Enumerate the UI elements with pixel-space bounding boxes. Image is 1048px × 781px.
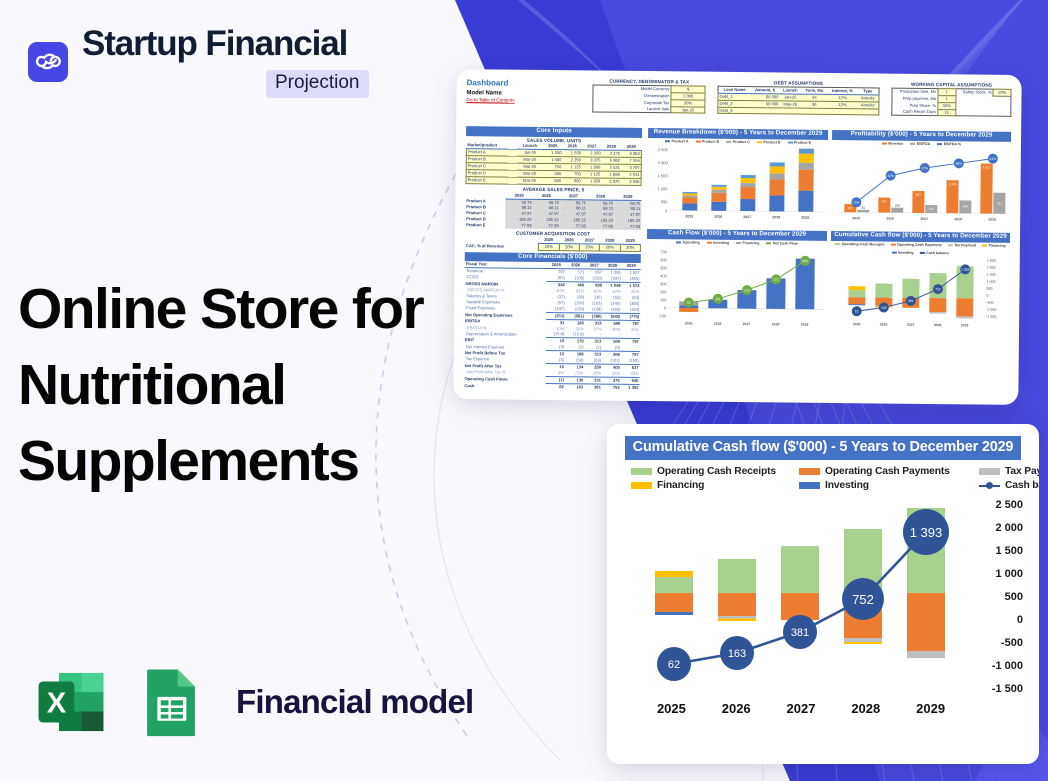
y-tick-label: 0 <box>1017 614 1023 626</box>
legend-label: EBITDA <box>917 142 930 146</box>
svg-text:2027: 2027 <box>907 323 915 327</box>
data-label: 371 <box>773 278 779 282</box>
svg-text:300: 300 <box>660 282 666 286</box>
x-tick-label: 2025 <box>639 701 704 716</box>
svg-text:600: 600 <box>660 258 666 262</box>
legend-label: Product C <box>733 140 750 144</box>
legend-label: Financing <box>657 480 704 491</box>
svg-text:2 500: 2 500 <box>987 259 996 263</box>
svg-text:0: 0 <box>986 294 988 298</box>
dashboard-screenshot-card: Dashboard Model Name Go to Table of Cont… <box>453 69 1021 405</box>
legend-item-investing: Investing <box>799 480 979 491</box>
legend-label: Operating <box>683 241 700 245</box>
data-label: 31 <box>862 206 866 210</box>
y-tick-label: 1 500 <box>995 545 1023 557</box>
bar-group-2027 <box>781 546 819 620</box>
chart-title: Cumulative Cash flow ($'000) - 5 Years t… <box>625 436 1021 460</box>
data-label: 381 <box>791 627 809 639</box>
core-financials-table: Fiscal Year 2025 2026 2027 2028 2029 Rev… <box>463 261 640 390</box>
cell-value: 163 <box>565 384 585 391</box>
mini-chart-title: Cumulative Cash flow ($'000) - 5 Years t… <box>831 231 1010 242</box>
chart-y-axis: 2 500 2 000 1 500 1 000 500 0 -500 -1 00… <box>967 501 1029 689</box>
currency-section-label: CURRENCY, DENOMINATOR & TAX <box>593 78 706 85</box>
cell-value: 62 <box>545 383 565 390</box>
data-label: 32% <box>887 174 894 178</box>
svg-text:2028: 2028 <box>934 323 942 327</box>
mini-chart-cumulative-cash-flow: Cumulative Cash flow ($'000) - 5 Years t… <box>830 231 1010 336</box>
row-label: Cash <box>463 382 545 389</box>
legend-item-operating-cash-payments: Operating Cash Payments <box>799 466 979 477</box>
svg-text:2028: 2028 <box>772 323 780 327</box>
legend-label: Investing <box>825 480 869 491</box>
svg-text:2028: 2028 <box>772 215 780 219</box>
table-row: Product E77.0377.0377.0377.0377.03 <box>465 222 641 230</box>
mini-chart-legend: Operating Cash Receipts Operating Cash P… <box>831 242 1010 256</box>
cumulative-cash-flow-card: Cumulative Cash flow ($'000) - 5 Years t… <box>607 424 1039 764</box>
data-label: 37% <box>921 166 928 170</box>
cac-table: 2025 2026 2027 2028 2029 CAC, % of Reven… <box>465 236 641 252</box>
data-label: 1 285 <box>949 182 957 186</box>
debt-assumptions-table: Loan Name Amount, $ Launch Term, Mo Inte… <box>717 86 879 116</box>
svg-text:2026: 2026 <box>714 322 722 326</box>
table-row: Launch dateJan-25 <box>593 105 705 113</box>
svg-text:100: 100 <box>660 298 666 302</box>
legend-item-cash-balance: Cash balance <box>979 480 1039 491</box>
legend-label: Operating Cash Payments <box>825 466 950 477</box>
svg-text:2025: 2025 <box>852 216 860 220</box>
revenue-breakdown-plot: 2 5002 0001 500 1 0005000 <box>647 144 828 224</box>
page-title: Online Store for Nutritional Supplements <box>18 272 448 499</box>
legend-item-financing: Financing <box>631 480 799 491</box>
bar-group-2025 <box>655 571 693 615</box>
x-tick-label: 2029 <box>898 701 963 716</box>
svg-text:400: 400 <box>660 274 666 278</box>
svg-text:500: 500 <box>986 287 992 291</box>
svg-text:2025: 2025 <box>685 322 693 326</box>
svg-text:2025: 2025 <box>685 215 693 219</box>
data-label: 218 <box>744 289 750 293</box>
chart-svg: 62 163 381 752 1 393 <box>625 501 975 697</box>
legend-label: Investing <box>713 241 729 245</box>
data-label: 10% <box>853 201 860 205</box>
data-label: 506 <box>963 204 969 208</box>
svg-text:500: 500 <box>660 266 666 270</box>
sales-volume-table: Market/product Launch 2025 2026 2027 202… <box>466 142 642 185</box>
chart-legend: Operating Cash Receipts Operating Cash P… <box>631 466 1019 491</box>
data-label: 640 <box>802 259 808 263</box>
legend-item-tax-payment: Tax Payment <box>979 466 1039 477</box>
data-label: 41% <box>990 157 997 161</box>
table-row: Cash Recon Days 15 <box>891 109 1010 117</box>
legend-label: Cash balance <box>1005 480 1039 491</box>
svg-text:0: 0 <box>664 306 666 310</box>
svg-text:2026: 2026 <box>886 217 894 221</box>
legend-label: Tax Payment <box>954 243 976 247</box>
average-price-table: 2025 2026 2027 2028 2029 Product A58.755… <box>465 192 641 230</box>
currency-table: Model Currency$ Denomination1 000 Corpor… <box>593 84 706 114</box>
svg-text:1 000: 1 000 <box>657 186 668 191</box>
data-label: 185 <box>895 204 901 208</box>
cash-flow-plot: 700600500 400300200 1000-100 <box>646 245 827 329</box>
legend-label: Operating Cash Payments <box>897 243 942 247</box>
data-label: 163 <box>728 648 746 660</box>
table-row: CAC, % of Revenue 20% 20% 20% 20% 20% <box>465 242 641 251</box>
bar-group-2026 <box>718 559 756 621</box>
svg-text:1 500: 1 500 <box>987 273 996 277</box>
table-row: Cash621633817521 393 <box>463 382 639 390</box>
mini-chart-title: Cash Flow ($'000) - 5 Years to December … <box>647 229 827 240</box>
legend-label: Product B <box>702 140 719 144</box>
svg-text:1 000: 1 000 <box>987 280 996 284</box>
google-sheets-icon <box>130 661 212 743</box>
table-row: Product EMar-256009001 3502 0253 038 <box>466 177 641 186</box>
data-label: 1 393 <box>910 525 943 540</box>
svg-text:2029: 2029 <box>801 216 809 220</box>
svg-text:-1 500: -1 500 <box>986 315 996 319</box>
svg-text:1 500: 1 500 <box>658 173 669 178</box>
svg-text:2029: 2029 <box>801 323 809 327</box>
mini-chart-title: Profitability ($'000) - 5 Years to Decem… <box>832 130 1011 141</box>
svg-text:2029: 2029 <box>961 324 969 328</box>
svg-text:0: 0 <box>665 208 668 213</box>
svg-text:2027: 2027 <box>743 322 751 326</box>
brand-title: Startup Financial <box>82 26 369 61</box>
data-label: 1 927 <box>983 166 991 170</box>
poster-canvas: Startup Financial Projection Online Stor… <box>0 0 1048 781</box>
cumulative-cash-flow-plot: 2 5002 0001 500 1 0005000 -500-1 000-1 5… <box>830 255 1010 331</box>
badge-label: Financial model <box>236 683 473 721</box>
data-label: 797 <box>997 202 1003 206</box>
profitability-plot: 10% 32% 37% 39% 41% 297 571 857 1 285 <box>831 146 1011 226</box>
svg-text:X: X <box>47 687 67 719</box>
data-label: 857 <box>916 193 922 197</box>
svg-text:-500: -500 <box>986 301 993 305</box>
legend-label: Investing <box>898 251 914 255</box>
cell-value: 1 393 <box>621 384 640 391</box>
brand-subtitle: Projection <box>266 70 369 98</box>
data-label: 752 <box>852 592 874 607</box>
svg-text:2025: 2025 <box>853 322 861 326</box>
x-tick-label: 2027 <box>769 701 834 716</box>
mini-chart-profitability: Profitability ($'000) - 5 Years to Decem… <box>831 130 1011 231</box>
data-label: 62 <box>687 301 691 305</box>
svg-text:-1 000: -1 000 <box>986 308 996 312</box>
legend-label: EBITDA % <box>944 142 961 146</box>
y-tick-label: 500 <box>1005 591 1023 603</box>
data-label: 62 <box>668 659 680 671</box>
y-tick-label: 1 000 <box>995 568 1023 580</box>
table-of-contents-link[interactable]: Go to Table of Contents <box>466 98 586 106</box>
brand-logo: Startup Financial Projection <box>28 26 369 98</box>
svg-text:2029: 2029 <box>988 218 996 222</box>
legend-label: Tax Payment <box>1005 466 1039 477</box>
svg-text:200: 200 <box>660 290 666 294</box>
ecommerce-e-icon <box>28 42 68 82</box>
svg-text:2028: 2028 <box>954 217 962 221</box>
data-label: 571 <box>882 200 888 204</box>
y-tick-label: -1 000 <box>992 660 1023 672</box>
cell-value: 381 <box>584 384 602 391</box>
svg-text:500: 500 <box>661 199 669 204</box>
microsoft-excel-icon: X <box>30 661 112 743</box>
mini-chart-cash-flow: Cash Flow ($'000) - 5 Years to December … <box>646 229 827 334</box>
svg-text:2027: 2027 <box>920 217 928 221</box>
data-label: 381 <box>908 299 914 303</box>
svg-text:2026: 2026 <box>880 323 888 327</box>
svg-text:2 000: 2 000 <box>987 266 996 270</box>
legend-label: Operating Cash Receipts <box>842 242 885 246</box>
format-badges: X Financial model <box>30 661 473 743</box>
table-row: Debt_3 <box>718 107 879 116</box>
data-label: 297 <box>848 206 854 210</box>
mini-chart-title: Revenue Breakdown ($'000) - 5 Years to D… <box>648 128 828 139</box>
svg-text:2 000: 2 000 <box>658 160 669 165</box>
svg-text:2 500: 2 500 <box>658 147 669 152</box>
svg-text:-100: -100 <box>659 314 667 318</box>
x-tick-label: 2026 <box>704 701 769 716</box>
legend-label: Revenue <box>888 142 903 146</box>
data-label: 163 <box>881 306 887 310</box>
data-label: 101 <box>715 297 721 301</box>
legend-label: Product E <box>794 141 811 145</box>
legend-label: Financing <box>742 241 759 245</box>
cell-value: 752 <box>602 384 621 391</box>
data-label: 752 <box>935 287 941 291</box>
working-capital-table: Production time, Mo 1 Safety Stock, % 10… <box>891 87 1012 117</box>
chart-plot-area: 62 163 381 752 1 393 2 500 2 000 1 500 1… <box>617 501 1029 716</box>
data-label: 313 <box>929 207 935 211</box>
core-inputs-header: Core Inputs <box>466 126 642 137</box>
legend-label: Product A <box>671 139 688 143</box>
chart-x-axis: 2025 2026 2027 2028 2029 <box>639 701 963 716</box>
legend-item-operating-cash-receipts: Operating Cash Receipts <box>631 466 799 477</box>
svg-text:2027: 2027 <box>743 215 751 219</box>
data-label: 1 393 <box>961 268 969 272</box>
svg-text:700: 700 <box>660 250 666 254</box>
data-label: 39% <box>955 162 962 166</box>
y-tick-label: -500 <box>1001 637 1023 649</box>
mini-chart-revenue-breakdown: Revenue Breakdown ($'000) - 5 Years to D… <box>647 128 828 229</box>
legend-label: Net Cash Flow <box>773 242 798 246</box>
x-tick-label: 2028 <box>833 701 898 716</box>
y-tick-label: -1 500 <box>992 683 1023 695</box>
legend-label: Financing <box>989 244 1006 248</box>
legend-label: Product D <box>763 140 780 144</box>
svg-text:2026: 2026 <box>714 215 722 219</box>
legend-label: Operating Cash Receipts <box>657 466 776 477</box>
y-tick-label: 2 500 <box>995 499 1023 511</box>
data-label: 62 <box>855 310 859 314</box>
legend-label: Cash balance <box>926 251 949 255</box>
y-tick-label: 2 000 <box>995 522 1023 534</box>
